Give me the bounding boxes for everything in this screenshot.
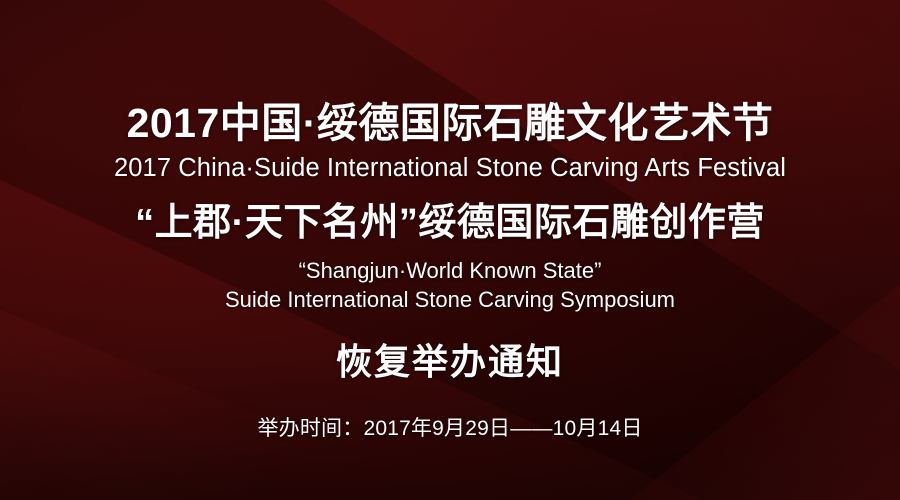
symposium-subtitle-english-quote: “Shangjun·World Known State”: [0, 257, 900, 285]
festival-title-chinese: 2017中国·绥德国际石雕文化艺术节: [0, 99, 900, 147]
notice-heading: 恢复举办通知: [0, 340, 900, 383]
event-date-line: 举办时间：2017年9月29日——10月14日: [0, 416, 900, 441]
poster-content: 2017中国·绥德国际石雕文化艺术节 2017 China·Suide Inte…: [0, 0, 900, 500]
symposium-subtitle-english-name: Suide International Stone Carving Sympos…: [0, 286, 900, 314]
symposium-title-chinese: “上郡·天下名州”绥德国际石雕创作营: [0, 201, 900, 247]
event-poster-banner: 2017中国·绥德国际石雕文化艺术节 2017 China·Suide Inte…: [0, 0, 900, 500]
festival-title-english: 2017 China·Suide International Stone Car…: [0, 153, 900, 184]
